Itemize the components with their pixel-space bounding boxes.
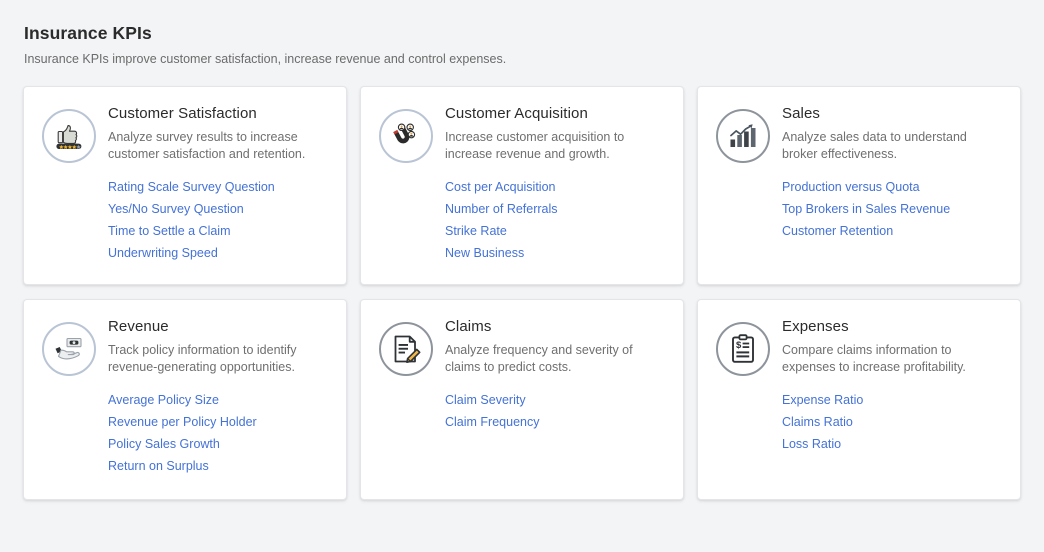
kpi-link-rating-scale-survey-question[interactable]: Rating Scale Survey Question [108,176,275,198]
card-title: Revenue [108,317,328,337]
card-icon-wrap [377,320,435,378]
card-description: Analyze frequency and severity of claims… [445,342,660,375]
kpi-link-return-on-surplus[interactable]: Return on Surplus [108,455,209,477]
kpi-link-customer-retention[interactable]: Customer Retention [782,220,893,242]
kpi-card-grid: Customer Satisfaction Analyze survey res… [0,86,1044,500]
card-description: Compare claims information to expenses t… [782,342,997,375]
kpi-link-production-versus-quota[interactable]: Production versus Quota [782,176,920,198]
card-description: Analyze sales data to understand broker … [782,129,997,162]
card-icon-wrap [714,107,772,165]
card-icon-wrap [377,107,435,165]
document-pencil-icon [379,322,433,376]
card-body: Customer Satisfaction Analyze survey res… [108,103,328,264]
card-icon-wrap [40,320,98,378]
kpi-card-revenue[interactable]: Revenue Track policy information to iden… [23,299,347,500]
card-title: Claims [445,317,665,337]
kpi-link-strike-rate[interactable]: Strike Rate [445,220,507,242]
card-body: Revenue Track policy information to iden… [108,316,328,477]
kpi-link-underwriting-speed[interactable]: Underwriting Speed [108,242,218,264]
kpi-link-cost-per-acquisition[interactable]: Cost per Acquisition [445,176,555,198]
card-links: Claim Severity Claim Frequency [445,389,665,433]
magnet-attracting-customers-icon [379,109,433,163]
card-title: Customer Satisfaction [108,104,328,124]
clipboard-dollar-icon: $ [716,322,770,376]
kpi-card-expenses[interactable]: $ Expenses Compare claims information to… [697,299,1021,500]
kpi-link-loss-ratio[interactable]: Loss Ratio [782,433,841,455]
card-links: Production versus Quota Top Brokers in S… [782,176,1002,242]
card-description: Track policy information to identify rev… [108,342,323,375]
card-links: Expense Ratio Claims Ratio Loss Ratio [782,389,1002,455]
kpi-card-customer-satisfaction[interactable]: Customer Satisfaction Analyze survey res… [23,86,347,285]
kpi-link-expense-ratio[interactable]: Expense Ratio [782,389,863,411]
card-icon-wrap: $ [714,320,772,378]
card-title: Sales [782,104,1002,124]
svg-text:$: $ [736,340,742,351]
kpi-link-time-to-settle-a-claim[interactable]: Time to Settle a Claim [108,220,231,242]
kpi-link-policy-sales-growth[interactable]: Policy Sales Growth [108,433,220,455]
kpi-card-sales[interactable]: Sales Analyze sales data to understand b… [697,86,1021,285]
card-links: Cost per Acquisition Number of Referrals… [445,176,665,264]
card-description: Analyze survey results to increase custo… [108,129,323,162]
kpi-link-claims-ratio[interactable]: Claims Ratio [782,411,853,433]
bar-chart-growth-icon [716,109,770,163]
kpi-link-revenue-per-policy-holder[interactable]: Revenue per Policy Holder [108,411,257,433]
card-title: Expenses [782,317,1002,337]
kpi-link-average-policy-size[interactable]: Average Policy Size [108,389,219,411]
kpi-link-number-of-referrals[interactable]: Number of Referrals [445,198,558,220]
kpi-link-top-brokers-in-sales-revenue[interactable]: Top Brokers in Sales Revenue [782,198,950,220]
card-description: Increase customer acquisition to increas… [445,129,660,162]
kpi-link-new-business[interactable]: New Business [445,242,524,264]
card-links: Rating Scale Survey Question Yes/No Surv… [108,176,328,264]
kpi-link-yes-no-survey-question[interactable]: Yes/No Survey Question [108,198,244,220]
card-body: Sales Analyze sales data to understand b… [782,103,1002,242]
page-subtitle: Insurance KPIs improve customer satisfac… [24,51,1020,67]
kpi-page: Insurance KPIs Insurance KPIs improve cu… [0,0,1044,500]
page-title: Insurance KPIs [24,22,1020,44]
page-header: Insurance KPIs Insurance KPIs improve cu… [0,22,1044,67]
card-body: Claims Analyze frequency and severity of… [445,316,665,433]
card-links: Average Policy Size Revenue per Policy H… [108,389,328,477]
kpi-card-customer-acquisition[interactable]: Customer Acquisition Increase customer a… [360,86,684,285]
hand-holding-cash-icon [42,322,96,376]
kpi-link-claim-severity[interactable]: Claim Severity [445,389,526,411]
card-title: Customer Acquisition [445,104,665,124]
card-body: Customer Acquisition Increase customer a… [445,103,665,264]
kpi-link-claim-frequency[interactable]: Claim Frequency [445,411,539,433]
thumbs-up-rating-icon [42,109,96,163]
card-body: Expenses Compare claims information to e… [782,316,1002,455]
card-icon-wrap [40,107,98,165]
kpi-card-claims[interactable]: Claims Analyze frequency and severity of… [360,299,684,500]
